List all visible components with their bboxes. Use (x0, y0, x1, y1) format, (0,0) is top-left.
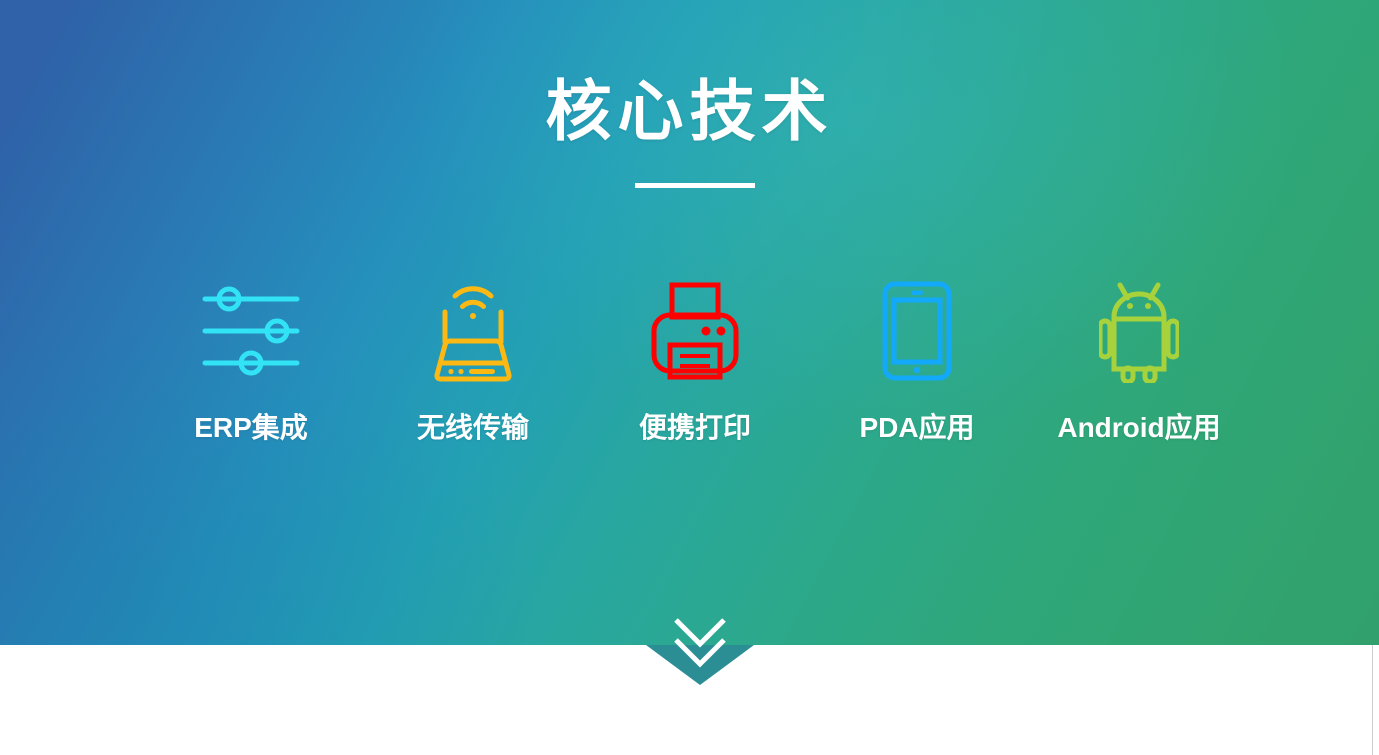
printer-icon (648, 278, 742, 384)
page-title: 核心技术 (0, 78, 1379, 144)
feature-item-pda[interactable]: PDA应用 (806, 278, 1028, 442)
double-chevron-down-icon[interactable] (668, 614, 732, 670)
feature-label-android: Android应用 (1057, 414, 1220, 442)
hero-content: 核心技术 (0, 0, 1379, 645)
android-robot-icon (1099, 278, 1179, 384)
hero-section: 核心技术 (0, 0, 1379, 645)
feature-item-android[interactable]: Android应用 (1028, 278, 1250, 442)
page-root: 核心技术 (0, 0, 1379, 755)
feature-item-erp[interactable]: ERP集成 (140, 278, 362, 442)
sliders-icon (199, 278, 303, 384)
feature-label-wireless: 无线传输 (417, 414, 529, 442)
feature-label-printer: 便携打印 (639, 414, 751, 442)
tablet-device-icon (881, 278, 953, 384)
feature-list: ERP集成 (140, 278, 1250, 442)
feature-item-wireless[interactable]: 无线传输 (362, 278, 584, 442)
feature-label-erp: ERP集成 (194, 414, 308, 442)
wireless-router-icon (423, 278, 523, 384)
feature-item-printer[interactable]: 便携打印 (584, 278, 806, 442)
feature-label-pda: PDA应用 (859, 414, 974, 442)
scrollbar-track[interactable] (1372, 645, 1373, 755)
title-underline-rule (635, 183, 755, 188)
